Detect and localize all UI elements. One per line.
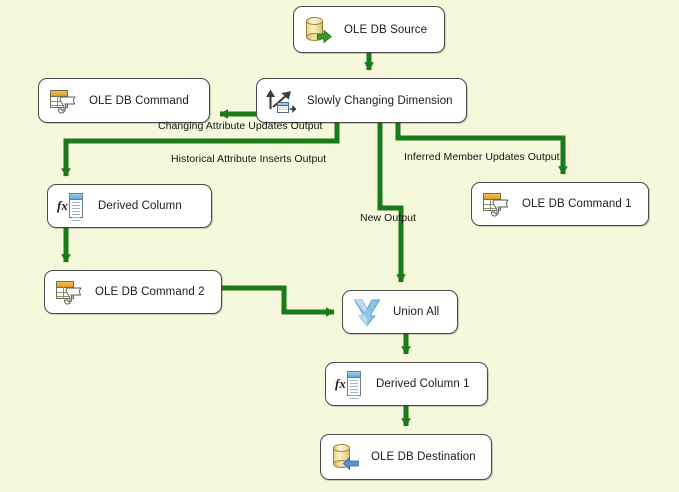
node-union-all[interactable]: Union All — [342, 290, 458, 334]
scroll-shape — [57, 95, 78, 116]
node-ole-db-command-2[interactable]: OLE DB Command 2 — [44, 270, 222, 314]
green-out-arrow — [317, 30, 332, 43]
database-source-icon — [303, 15, 333, 45]
derived-column-icon: fx — [57, 191, 87, 221]
node-label: OLE DB Command 2 — [95, 286, 205, 298]
node-label: OLE DB Destination — [371, 451, 476, 463]
ole-db-command-icon — [54, 277, 84, 307]
blue-in-arrow — [343, 457, 359, 470]
node-ole-db-command[interactable]: OLE DB Command — [38, 78, 210, 123]
fx-symbol: fx — [57, 199, 68, 212]
data-flow-canvas[interactable]: OLE DB Source OLE DB Command Slowly — [0, 0, 679, 492]
node-label: OLE DB Command — [89, 95, 189, 107]
connector-label-historical-attribute-inserts-output: Historical Attribute Inserts Output — [171, 153, 326, 165]
node-label: OLE DB Command 1 — [522, 198, 632, 210]
node-derived-column[interactable]: fx Derived Column — [47, 184, 212, 228]
connector-label-changing-attribute-updates-output: Changing Attribute Updates Output — [158, 120, 323, 132]
scroll-shape — [63, 286, 84, 307]
connector-scd-to-union-all — [380, 123, 401, 282]
connector-layer — [0, 0, 679, 492]
node-ole-db-destination[interactable]: OLE DB Destination — [320, 434, 492, 480]
derived-column-icon: fx — [335, 369, 365, 399]
connector-label-new-output: New Output — [360, 212, 416, 224]
slowly-changing-dimension-icon — [266, 86, 296, 116]
node-derived-column-1[interactable]: fx Derived Column 1 — [325, 362, 488, 406]
union-all-icon — [352, 297, 382, 327]
ole-db-command-icon — [48, 86, 78, 116]
node-label: Union All — [393, 306, 439, 318]
node-label: Derived Column — [98, 200, 182, 212]
connector-label-inferred-member-updates-output: Inferred Member Updates Output — [404, 151, 560, 163]
node-slowly-changing-dimension[interactable]: Slowly Changing Dimension — [256, 78, 467, 123]
node-ole-db-source[interactable]: OLE DB Source — [293, 6, 445, 53]
fx-symbol: fx — [335, 377, 346, 390]
scd-arrows-shape — [266, 86, 296, 116]
database-destination-icon — [330, 442, 360, 472]
merge-arrow-shape — [352, 297, 382, 327]
ole-db-command-icon — [481, 189, 511, 219]
column-list-shape — [347, 371, 361, 396]
node-label: OLE DB Source — [344, 24, 427, 36]
column-list-shape — [69, 193, 83, 218]
scroll-shape — [490, 198, 511, 219]
node-label: Derived Column 1 — [376, 378, 470, 390]
node-ole-db-command-1[interactable]: OLE DB Command 1 — [471, 182, 649, 226]
connector-scd-to-ole-db-command-1 — [398, 123, 563, 174]
node-label: Slowly Changing Dimension — [307, 95, 453, 107]
connector-command-2-to-union-all — [222, 288, 334, 312]
